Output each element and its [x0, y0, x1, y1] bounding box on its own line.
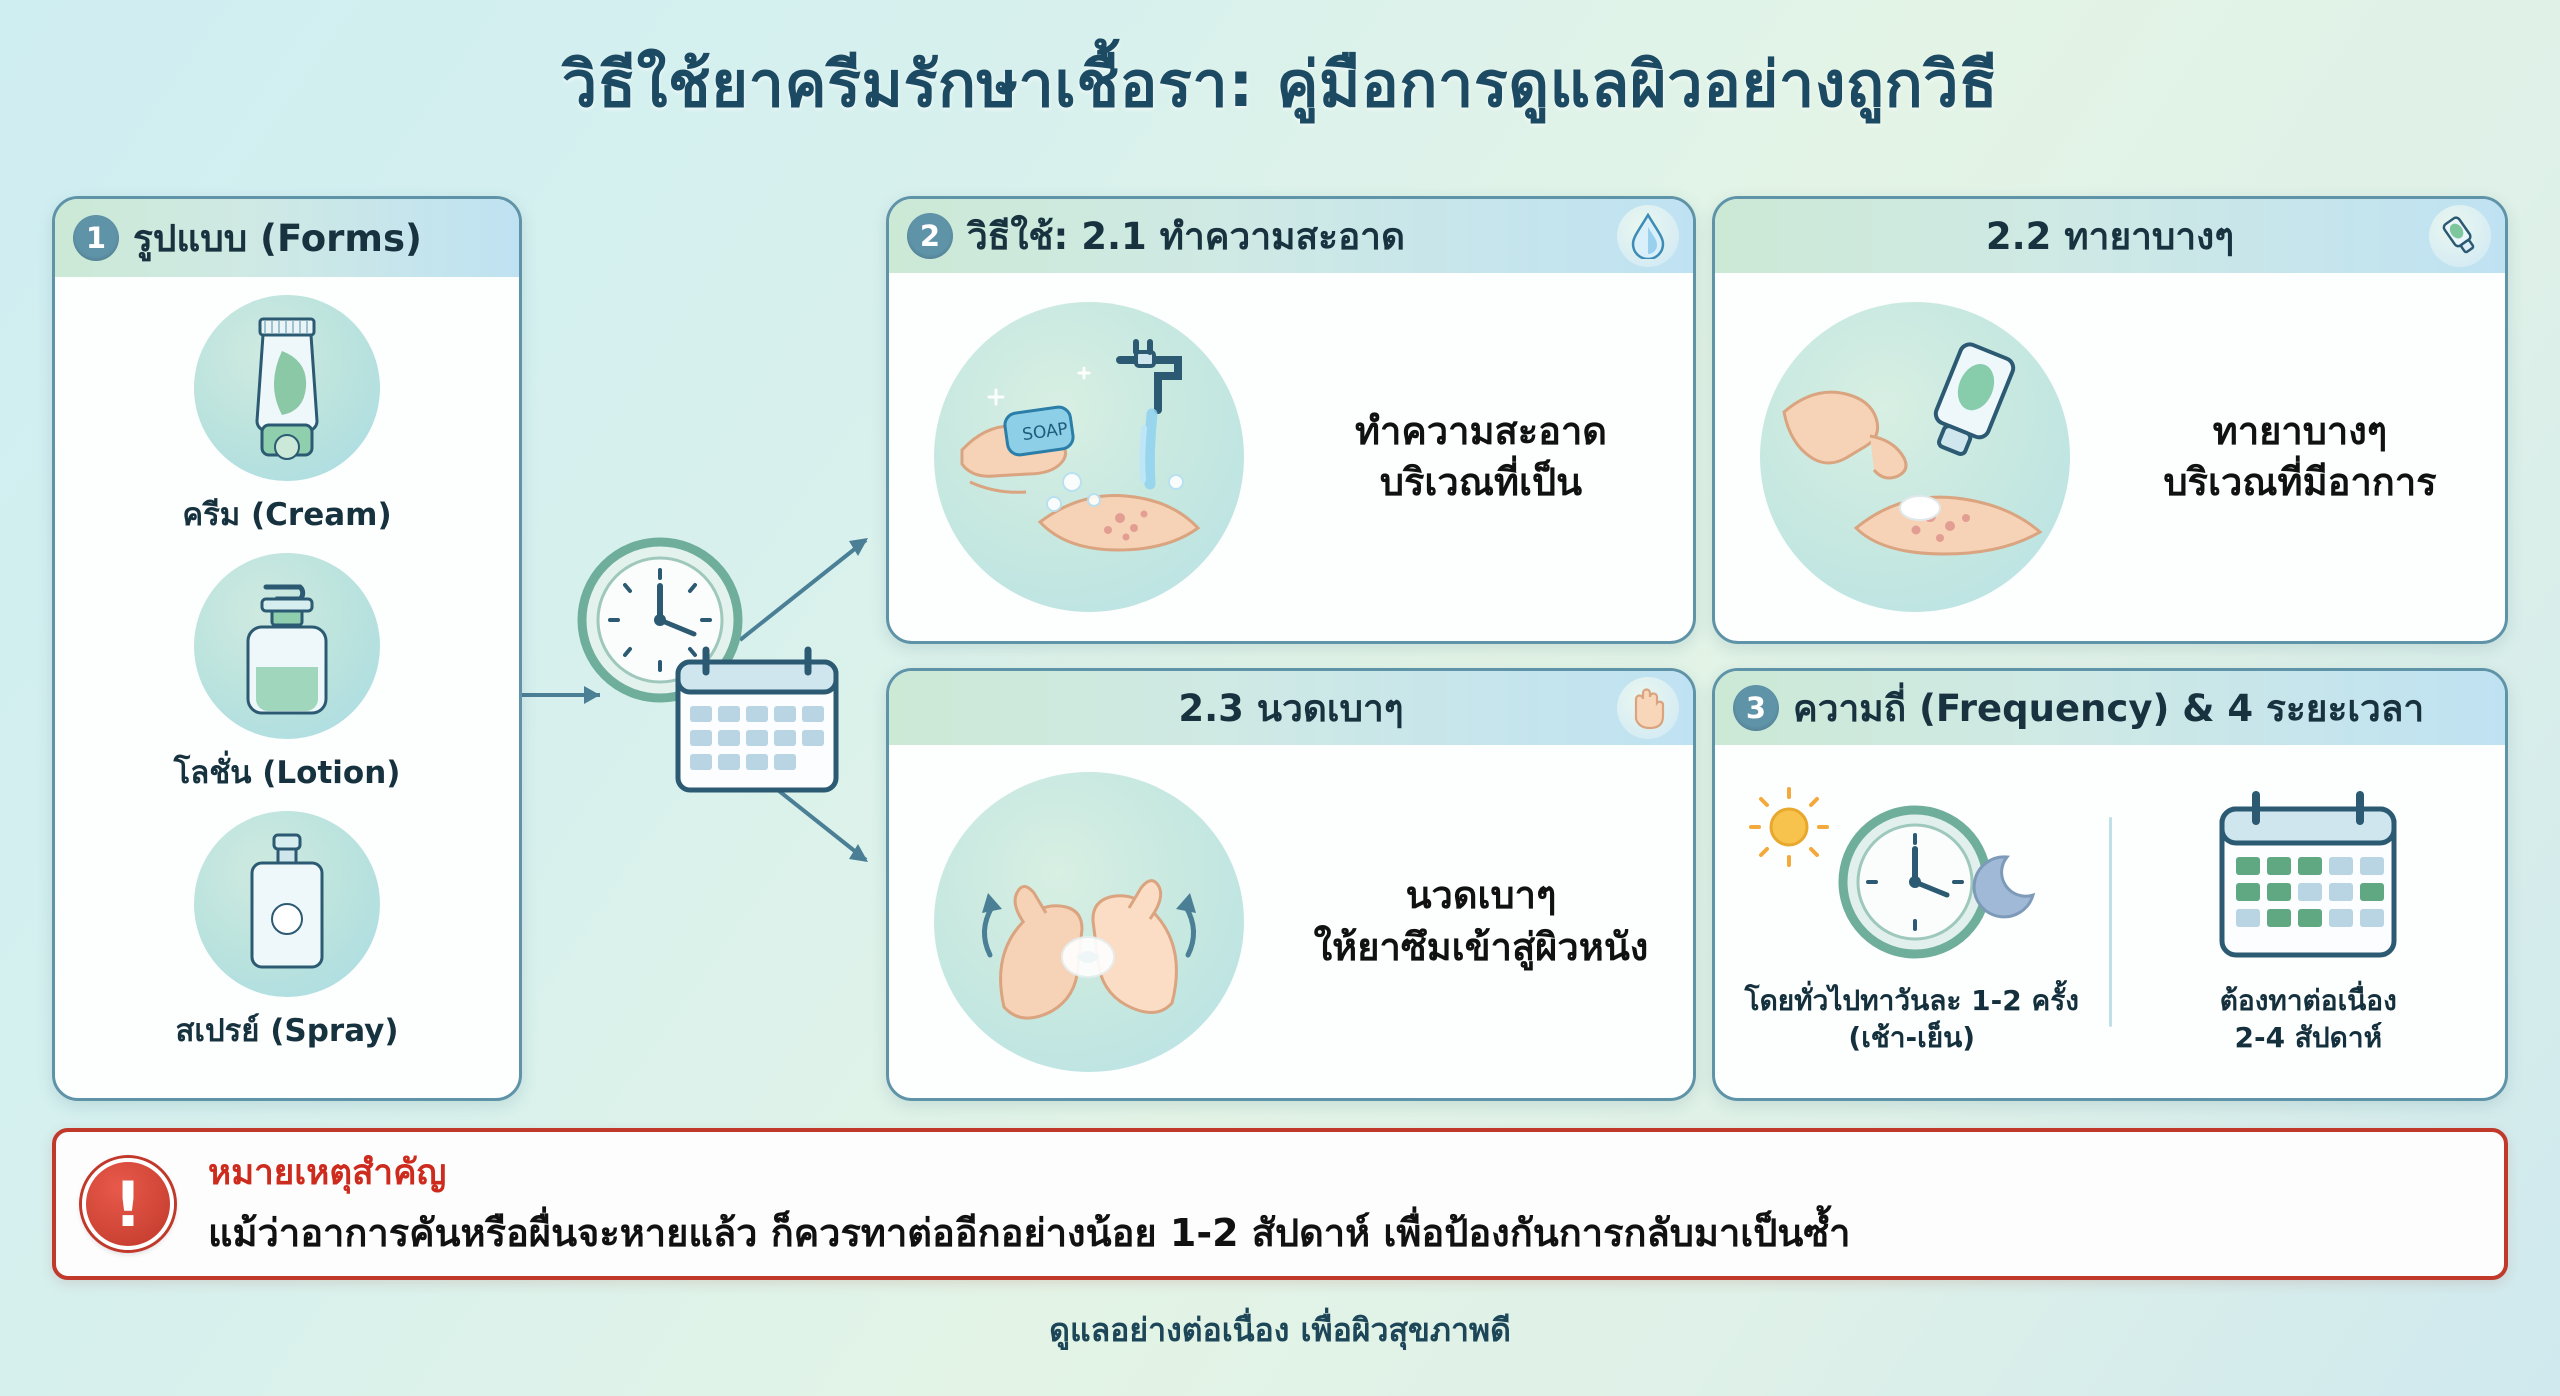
hands-washing-with-soap-icon: SOAP	[944, 332, 1234, 582]
panel-clean-illustration: SOAP	[899, 277, 1279, 637]
frequency-column: โดยทั่วไปทาวันละ 1-2 ครั้ง (เช้า-เย็น)	[1715, 787, 2109, 1056]
frequency-icons	[1747, 787, 2077, 977]
panel-forms-number: 1	[73, 215, 119, 261]
duration-caption-line1: ต้องทาต่อเนื่อง	[2220, 983, 2397, 1019]
panel-massage-text-line2: ให้ยาซึมเข้าสู่ผิวหนัง	[1279, 922, 1683, 973]
form-item-spray[interactable]: สเปรย์ (Spray)	[175, 811, 398, 1055]
panel-clean-title: วิธีใช้: 2.1 ทำความสะอาด	[967, 207, 1405, 266]
lotion-disc	[194, 553, 380, 739]
panel-apply-text: ทายาบางๆ บริเวณที่มีอาการ	[2105, 406, 2495, 509]
panel-forms-header: 1 รูปแบบ (Forms)	[55, 199, 519, 277]
duration-column: ต้องทาต่อเนื่อง 2-4 สัปดาห์	[2112, 787, 2506, 1056]
panel-massage-text: นวดเบาๆ ให้ยาซึมเข้าสู่ผิวหนัง	[1279, 870, 1683, 973]
hand-applying-cream-icon	[1770, 332, 2060, 582]
tube-icon	[232, 313, 342, 463]
calendar-icon	[2198, 787, 2418, 977]
panel-frequency-number: 3	[1733, 685, 1779, 731]
warning-body: แม้ว่าอาการคันหรือผื่นจะหายแล้ว ก็ควรทาต…	[208, 1202, 2478, 1263]
panel-step-apply[interactable]: 2.2 ทายาบางๆ	[1712, 196, 2508, 644]
panel-step-clean[interactable]: 2 วิธีใช้: 2.1 ทำความสะอาด	[886, 196, 1696, 644]
panel-clean-text: ทำความสะอาด บริเวณที่เป็น	[1279, 406, 1683, 509]
spray-disc	[194, 811, 380, 997]
panel-massage-illustration	[899, 772, 1279, 1072]
page-title: วิธีใช้ยาครีมรักษาเชื้อรา: คู่มือการดูแล…	[0, 34, 2560, 134]
frequency-caption: โดยทั่วไปทาวันละ 1-2 ครั้ง (เช้า-เย็น)	[1745, 983, 2079, 1056]
panel-frequency-header: 3 ความถี่ (Frequency) & 4 ระยะเวลา	[1715, 671, 2505, 745]
panel-clean-text-line2: บริเวณที่เป็น	[1279, 457, 1683, 508]
panel-forms[interactable]: 1 รูปแบบ (Forms)	[52, 196, 522, 1101]
cream-tube-icon	[2429, 205, 2491, 267]
panel-apply-header: 2.2 ทายาบางๆ	[1715, 199, 2505, 273]
panel-apply-illustration	[1725, 277, 2105, 637]
form-item-lotion[interactable]: โลชั่น (Lotion)	[174, 553, 401, 797]
spray-can-icon	[232, 827, 342, 982]
duration-caption: ต้องทาต่อเนื่อง 2-4 สัปดาห์	[2220, 983, 2397, 1056]
frequency-caption-line1: โดยทั่วไปทาวันละ 1-2 ครั้ง	[1745, 983, 2079, 1019]
infographic-stage: วิธีใช้ยาครีมรักษาเชื้อรา: คู่มือการดูแล…	[0, 0, 2560, 1396]
form-item-cream[interactable]: ครีม (Cream)	[182, 295, 391, 539]
hands-massaging-icon	[944, 797, 1234, 1047]
form-label-lotion: โลชั่น (Lotion)	[174, 747, 401, 797]
calendar-icon	[678, 650, 836, 790]
water-drop-icon	[1617, 205, 1679, 267]
frequency-caption-line2: (เช้า-เย็น)	[1745, 1020, 2079, 1056]
moon-icon	[1974, 857, 2033, 917]
panel-forms-title: รูปแบบ (Forms)	[133, 209, 422, 268]
panel-apply-body: ทายาบางๆ บริเวณที่มีอาการ	[1715, 273, 2505, 641]
panel-frequency-title: ความถี่ (Frequency) & 4 ระยะเวลา	[1793, 679, 2424, 738]
panel-clean-body: SOAP	[889, 273, 1693, 641]
forms-list: ครีม (Cream) โลชั่น (Lotion)	[55, 277, 519, 1065]
important-note-banner: ! หมายเหตุสำคัญ แม้ว่าอาการคันหรือผื่นจะ…	[52, 1128, 2508, 1280]
panel-massage-title: 2.3 นวดเบาๆ	[907, 679, 1675, 738]
panel-apply-text-line2: บริเวณที่มีอาการ	[2105, 457, 2495, 508]
panel-frequency-duration[interactable]: 3 ความถี่ (Frequency) & 4 ระยะเวลา	[1712, 668, 2508, 1101]
panel-apply-title: 2.2 ทายาบางๆ	[1733, 207, 2487, 266]
panel-clean-number: 2	[907, 213, 953, 259]
exclamation-icon: !	[82, 1158, 174, 1250]
panel-massage-body: นวดเบาๆ ให้ยาซึมเข้าสู่ผิวหนัง	[889, 745, 1693, 1098]
panel-clean-header: 2 วิธีใช้: 2.1 ทำความสะอาด	[889, 199, 1693, 273]
open-hand-icon	[1617, 677, 1679, 739]
form-label-spray: สเปรย์ (Spray)	[175, 1005, 398, 1055]
warning-heading: หมายเหตุสำคัญ	[208, 1145, 2478, 1200]
clock-icon	[1843, 810, 1987, 954]
panel-apply-text-line1: ทายาบางๆ	[2105, 406, 2495, 457]
panel-massage-text-line1: นวดเบาๆ	[1279, 870, 1683, 921]
footer-text: ดูแลอย่างต่อเนื่อง เพื่อผิวสุขภาพดี	[0, 1305, 2560, 1356]
panel-massage-header: 2.3 นวดเบาๆ	[889, 671, 1693, 745]
duration-caption-line2: 2-4 สัปดาห์	[2220, 1020, 2397, 1056]
pump-bottle-icon	[232, 569, 342, 724]
panel-frequency-body: โดยทั่วไปทาวันละ 1-2 ครั้ง (เช้า-เย็น)	[1715, 745, 2505, 1098]
panel-clean-text-line1: ทำความสะอาด	[1279, 406, 1683, 457]
warning-texts: หมายเหตุสำคัญ แม้ว่าอาการคันหรือผื่นจะหา…	[208, 1145, 2478, 1263]
sun-icon	[1751, 789, 1827, 865]
time-cluster	[560, 530, 850, 800]
form-label-cream: ครีม (Cream)	[182, 489, 391, 539]
cream-disc	[194, 295, 380, 481]
panel-step-massage[interactable]: 2.3 นวดเบาๆ	[886, 668, 1696, 1101]
